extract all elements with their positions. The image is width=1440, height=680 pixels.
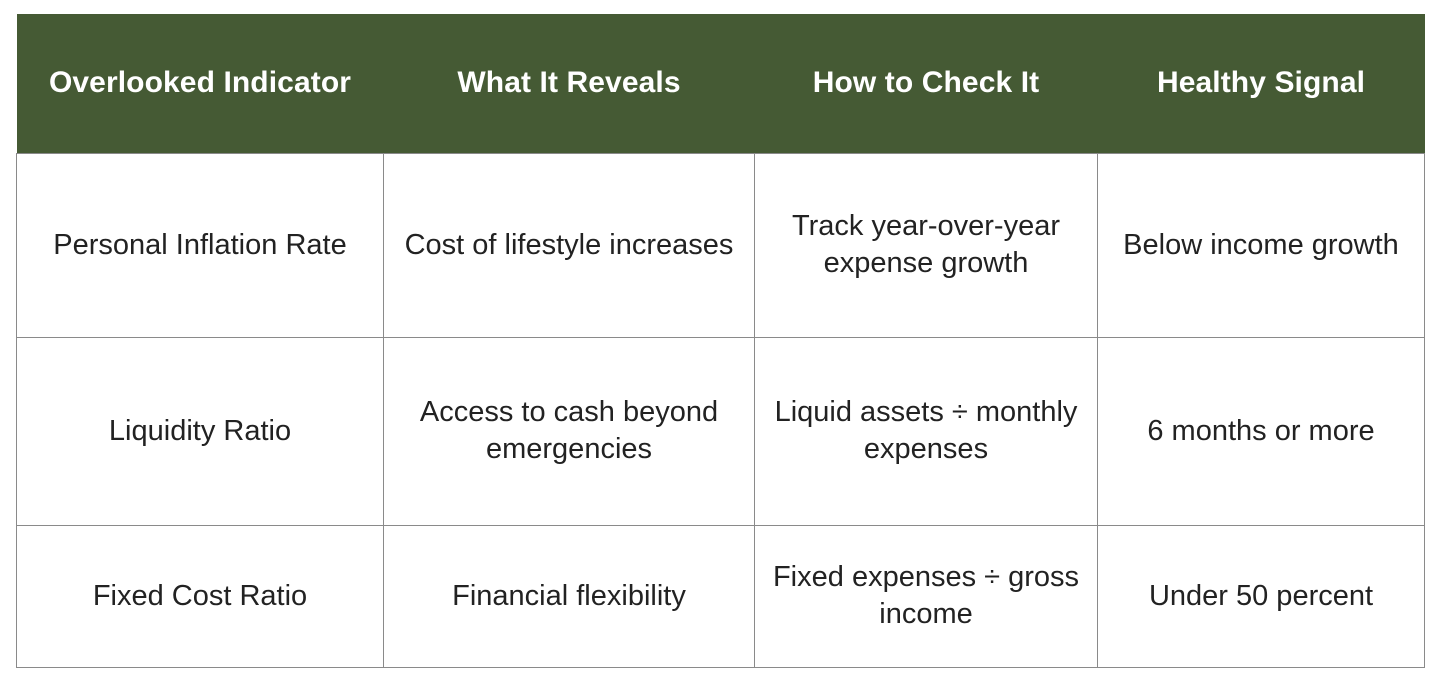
page-root: Overlooked Indicator What It Reveals How… [0,0,1440,680]
column-header-how-to-check-it: How to Check It [755,14,1098,153]
cell-text: Liquidity Ratio [33,413,367,450]
cell-how-to-check: Track year-over-year expense growth [755,153,1098,337]
table-row: Personal Inflation Rate Cost of lifestyl… [17,153,1425,337]
cell-text: Fixed expenses ÷ gross income [771,559,1081,632]
table-row: Fixed Cost Ratio Financial flexibility F… [17,525,1425,667]
cell-reveals: Financial flexibility [384,525,755,667]
table-body: Personal Inflation Rate Cost of lifestyl… [17,153,1425,667]
column-header-what-it-reveals: What It Reveals [384,14,755,153]
cell-text: Track year-over-year expense growth [771,208,1081,281]
cell-reveals: Access to cash beyond emergencies [384,337,755,525]
column-header-healthy-signal: Healthy Signal [1098,14,1425,153]
cell-indicator: Fixed Cost Ratio [17,525,384,667]
table-container: Overlooked Indicator What It Reveals How… [16,14,1424,668]
cell-reveals: Cost of lifestyle increases [384,153,755,337]
cell-text: Personal Inflation Rate [33,227,367,264]
financial-indicators-table: Overlooked Indicator What It Reveals How… [16,14,1425,668]
table-header: Overlooked Indicator What It Reveals How… [17,14,1425,153]
cell-indicator: Personal Inflation Rate [17,153,384,337]
column-header-overlooked-indicator: Overlooked Indicator [17,14,384,153]
table-row: Liquidity Ratio Access to cash beyond em… [17,337,1425,525]
cell-how-to-check: Liquid assets ÷ monthly expenses [755,337,1098,525]
cell-text: Financial flexibility [400,578,738,615]
cell-text: Under 50 percent [1114,578,1408,615]
cell-text: 6 months or more [1114,413,1408,450]
cell-text: Access to cash beyond emergencies [400,394,738,467]
cell-text: Below income growth [1114,227,1408,264]
cell-text: Cost of lifestyle increases [400,227,738,264]
cell-text: Liquid assets ÷ monthly expenses [771,394,1081,467]
cell-how-to-check: Fixed expenses ÷ gross income [755,525,1098,667]
cell-healthy-signal: Under 50 percent [1098,525,1425,667]
cell-text: Fixed Cost Ratio [33,578,367,615]
cell-healthy-signal: 6 months or more [1098,337,1425,525]
cell-healthy-signal: Below income growth [1098,153,1425,337]
cell-indicator: Liquidity Ratio [17,337,384,525]
table-header-row: Overlooked Indicator What It Reveals How… [17,14,1425,153]
